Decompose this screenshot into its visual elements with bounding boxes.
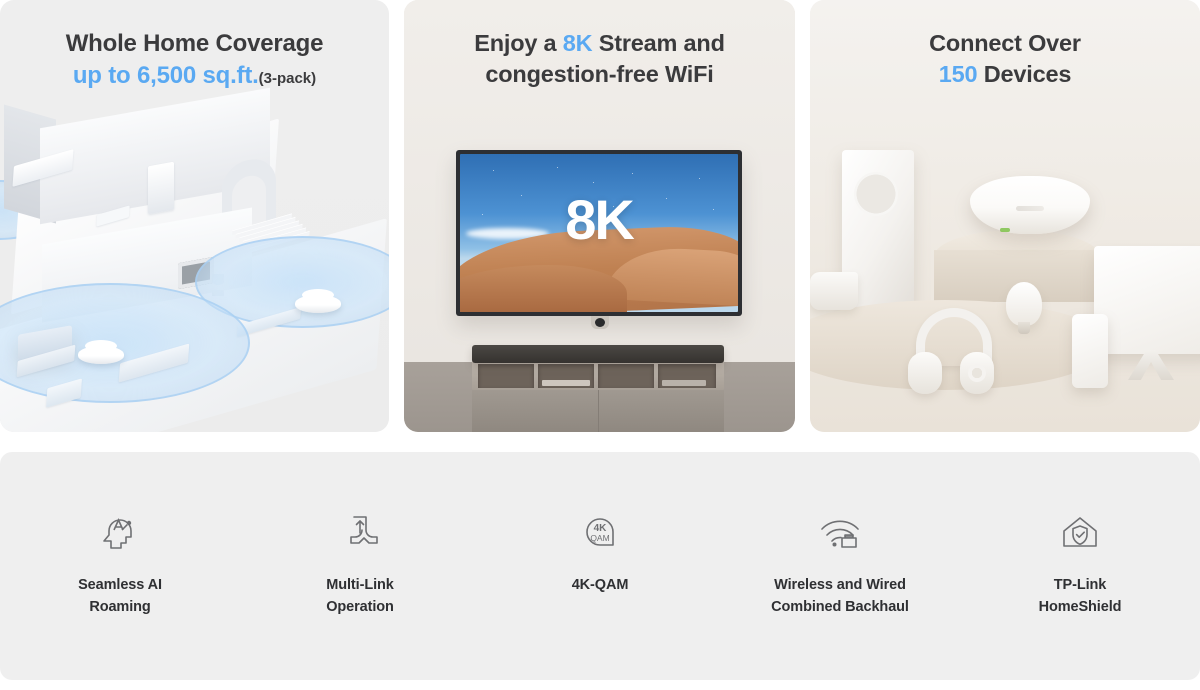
home-coverage-illustration	[0, 118, 389, 432]
card-3-heading-line2: 150 Devices	[810, 59, 1200, 90]
card-connect-devices[interactable]: Connect Over 150 Devices	[810, 0, 1200, 432]
monitor	[1094, 246, 1200, 354]
feature-label: Wireless and Wired Combined Backhaul	[740, 574, 940, 618]
feature-multi-link-operation[interactable]: Multi-Link Operation	[260, 504, 460, 618]
feature-strip: Seamless AI Roaming Multi-Link Operation	[0, 452, 1200, 680]
wall-mounted-tv: 8K	[456, 150, 742, 316]
card-2-text-a: Enjoy a	[474, 30, 563, 56]
mesh-router	[970, 176, 1090, 234]
wardrobe	[148, 162, 174, 215]
mesh-unit-living	[78, 346, 124, 364]
feature-label: TP-Link HomeShield	[980, 574, 1180, 618]
ai-head-icon	[20, 504, 220, 560]
console-cubby	[598, 364, 654, 388]
card-whole-home-coverage[interactable]: Whole Home Coverage up to 6,500 sq.ft.(3…	[0, 0, 389, 432]
feature-label: Multi-Link Operation	[260, 574, 460, 618]
feature-cards-row: Whole Home Coverage up to 6,500 sq.ft.(3…	[0, 0, 1200, 432]
feature-label-line1: Seamless AI	[20, 574, 220, 596]
card-3-device-count: 150	[939, 61, 978, 87]
monitor-stand	[1128, 350, 1174, 380]
sand-dune-left	[460, 265, 627, 312]
card-1-heading-line2: up to 6,500 sq.ft.(3-pack)	[0, 60, 389, 92]
headphone-earcup	[960, 352, 994, 394]
feature-label-line1: Multi-Link	[260, 574, 460, 596]
smartphone	[1072, 314, 1108, 388]
card-2-text-b: Stream and	[592, 30, 724, 56]
card-3-heading: Connect Over 150 Devices	[810, 28, 1200, 90]
media-device	[662, 380, 706, 386]
feature-label: 4K-QAM	[500, 574, 700, 596]
card-2-resolution-value: 8K	[563, 30, 593, 56]
tv-resolution-label: 8K	[460, 192, 738, 248]
feature-label-line2: Operation	[260, 596, 460, 618]
smart-bulb	[1006, 282, 1042, 326]
feature-label-line1: 4K-QAM	[500, 574, 700, 596]
home-shield-icon	[980, 504, 1180, 560]
feature-seamless-ai-roaming[interactable]: Seamless AI Roaming	[20, 504, 220, 618]
card-1-coverage-value: up to 6,500 sq.ft.	[73, 62, 259, 89]
feature-label-line1: Wireless and Wired	[740, 574, 940, 596]
feature-label-line2: HomeShield	[980, 596, 1180, 618]
tv-camera	[591, 316, 609, 329]
feature-tp-link-homeshield[interactable]: TP-Link HomeShield	[980, 504, 1180, 618]
wifi-ethernet-icon	[740, 504, 940, 560]
card-3-heading-line1: Connect Over	[810, 28, 1200, 59]
headphone-earcup	[908, 352, 942, 394]
console-cubby	[478, 364, 534, 388]
mesh-unit-upper	[295, 295, 341, 313]
feature-label-line2: Combined Backhaul	[740, 596, 940, 618]
card-2-heading-line1: Enjoy a 8K Stream and	[404, 28, 795, 59]
feature-label-line1: TP-Link	[980, 574, 1180, 596]
qam-bottom-text: QAM	[590, 533, 609, 543]
card-8k-stream[interactable]: 8K Enjoy a 8K Stream and congestion-free…	[404, 0, 795, 432]
feature-label-line2: Roaming	[20, 596, 220, 618]
card-1-pack-note: (3-pack)	[259, 70, 317, 87]
feature-label: Seamless AI Roaming	[20, 574, 220, 618]
4k-qam-icon: 4K QAM	[500, 504, 700, 560]
multi-link-icon	[260, 504, 460, 560]
card-1-heading-line1: Whole Home Coverage	[0, 28, 389, 60]
card-2-heading-line2: congestion-free WiFi	[404, 59, 795, 90]
tv-screen: 8K	[460, 154, 738, 312]
console-lower-doors	[472, 390, 724, 432]
game-controller	[810, 272, 858, 310]
card-1-heading: Whole Home Coverage up to 6,500 sq.ft.(3…	[0, 28, 389, 91]
card-2-heading: Enjoy a 8K Stream and congestion-free Wi…	[404, 28, 795, 90]
media-device	[542, 380, 590, 386]
product-feature-page: Whole Home Coverage up to 6,500 sq.ft.(3…	[0, 0, 1200, 690]
soundbar	[472, 345, 724, 363]
headphones	[910, 308, 998, 394]
isometric-scene	[0, 118, 389, 432]
feature-combined-backhaul[interactable]: Wireless and Wired Combined Backhaul	[740, 504, 940, 618]
router-led	[1000, 228, 1010, 232]
card-3-devices-word: Devices	[977, 61, 1071, 87]
feature-4k-qam[interactable]: 4K QAM 4K-QAM	[500, 504, 700, 596]
